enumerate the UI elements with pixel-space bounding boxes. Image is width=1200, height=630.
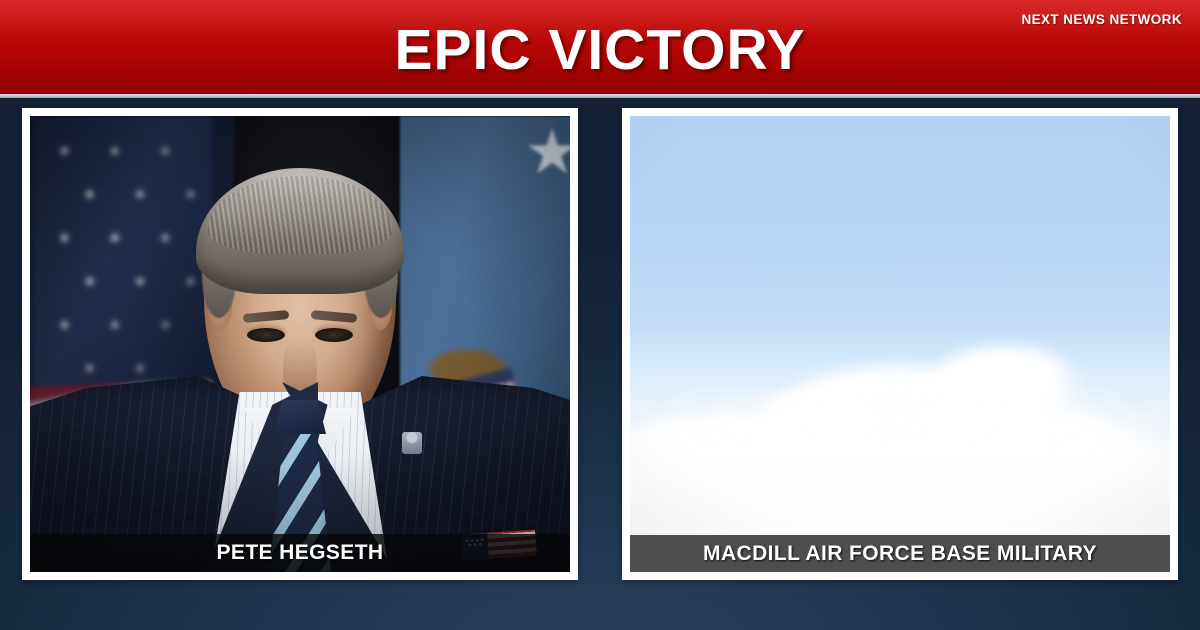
network-watermark: NEXT NEWS NETWORK: [1021, 12, 1182, 27]
media-panel-right[interactable]: MACDILL AIR FORCE BASE MILITARY: [622, 108, 1178, 580]
portrait-scene: [30, 116, 570, 572]
media-panel-left[interactable]: PETE HEGSETH: [22, 108, 578, 580]
header-divider: [0, 94, 1200, 98]
page-title: EPIC VICTORY: [0, 17, 1200, 83]
news-graphic-card: EPIC VICTORY NEXT NEWS NETWORK: [0, 0, 1200, 630]
caption-right: MACDILL AIR FORCE BASE MILITARY: [630, 535, 1170, 572]
eye-right: [315, 328, 353, 342]
header-banner: EPIC VICTORY NEXT NEWS NETWORK: [0, 0, 1200, 94]
caption-left: PETE HEGSETH: [30, 534, 570, 572]
jets-photo: MACDILL AIR FORCE BASE MILITARY: [630, 116, 1170, 572]
eye-left: [247, 328, 285, 342]
person-figure: [30, 116, 570, 572]
portrait-photo: PETE HEGSETH: [30, 116, 570, 572]
lapel-pin-icon: [402, 432, 422, 454]
hair: [196, 168, 404, 294]
necktie-knot: [274, 400, 326, 434]
